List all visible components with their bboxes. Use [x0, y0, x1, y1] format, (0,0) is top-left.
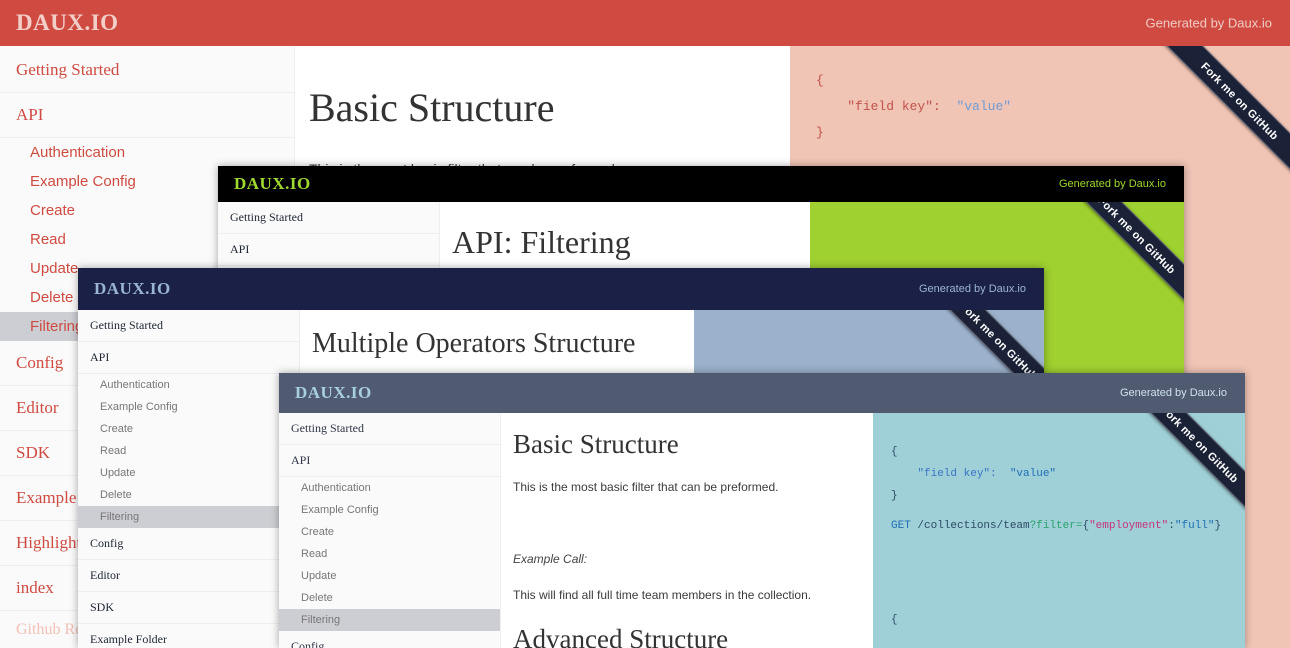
sidebar-item-update[interactable]: Update: [279, 565, 500, 587]
sidebar-item-api[interactable]: API: [0, 93, 294, 137]
code-brace-open: {: [816, 73, 824, 88]
sidebar-item-filtering[interactable]: Filtering: [279, 609, 500, 631]
sidebar-item-getting-started[interactable]: Getting Started: [0, 48, 294, 92]
sidebar-item-authentication[interactable]: Authentication: [279, 477, 500, 499]
sidebar: Getting Started API Authentication Examp…: [78, 310, 300, 648]
nav-subitem[interactable]: Delete: [78, 484, 299, 506]
sidebar-item-editor[interactable]: Editor: [78, 560, 299, 591]
page-subtitle-advanced: Advanced Structure: [513, 624, 873, 648]
nav-item[interactable]: API: [78, 342, 299, 374]
page-title: Basic Structure: [309, 84, 790, 131]
sidebar-item-read[interactable]: Read: [78, 440, 299, 462]
sidebar-item-api[interactable]: API: [279, 445, 500, 476]
sidebar-item-filtering[interactable]: Filtering: [78, 506, 299, 528]
code-json-value: "full": [1175, 520, 1215, 532]
nav-item[interactable]: API: [279, 445, 500, 477]
sidebar-item-getting-started[interactable]: Getting Started: [279, 413, 500, 444]
nav-subitem[interactable]: Example Config: [78, 396, 299, 418]
daux-window-slate: DAUX.IO Generated by Daux.io Getting Sta…: [279, 373, 1245, 648]
generated-by-label[interactable]: Generated by Daux.io: [1120, 387, 1227, 399]
nav-subitem-active[interactable]: Filtering: [78, 506, 299, 528]
code-json-colon: :: [1168, 520, 1175, 532]
nav-subitem[interactable]: Update: [78, 462, 299, 484]
nav-subitem[interactable]: Read: [279, 543, 500, 565]
generated-by-label[interactable]: Generated by Daux.io: [1059, 178, 1166, 190]
window3-topbar: DAUX.IO Generated by Daux.io: [78, 268, 1044, 310]
sidebar-item-delete[interactable]: Delete: [279, 587, 500, 609]
nav-subitem[interactable]: Create: [78, 418, 299, 440]
code-key: "field key":: [847, 99, 941, 114]
generated-by-label[interactable]: Generated by Daux.io: [1146, 16, 1272, 31]
nav-item[interactable]: Getting Started: [218, 202, 439, 234]
sidebar-item-getting-started[interactable]: Getting Started: [78, 310, 299, 341]
sidebar-item-api[interactable]: API: [78, 342, 299, 373]
nav-item[interactable]: SDK: [78, 592, 299, 624]
nav-item[interactable]: Config: [279, 631, 500, 648]
paragraph-result: This will find all full time team member…: [513, 588, 873, 602]
code-key: "field key":: [917, 468, 996, 480]
sidebar-item-config[interactable]: Config: [279, 631, 500, 648]
logo-daux-io[interactable]: DAUX.IO: [94, 279, 171, 299]
sidebar-item-create[interactable]: Create: [279, 521, 500, 543]
code-json-close: }: [1215, 520, 1222, 532]
nav-list: Getting Started API Authentication Examp…: [78, 310, 299, 648]
nav-list: Getting Started API Authentication Examp…: [279, 413, 500, 648]
nav-subitem[interactable]: Authentication: [279, 477, 500, 499]
code-query-param: ?filter=: [1030, 520, 1083, 532]
sidebar-item-getting-started[interactable]: Getting Started: [218, 202, 439, 233]
nav-item[interactable]: Editor: [78, 560, 299, 592]
code-block-get: GET /collections/team?filter={"employmen…: [873, 507, 1245, 537]
nav-subitem[interactable]: Update: [279, 565, 500, 587]
content-area: Basic Structure This is the most basic f…: [501, 413, 873, 648]
sidebar-item-read[interactable]: Read: [279, 543, 500, 565]
nav-item[interactable]: Getting Started: [0, 48, 294, 93]
nav-subitem-active[interactable]: Filtering: [279, 609, 500, 631]
code-http-method: GET: [891, 520, 911, 532]
sidebar: Getting Started API Authentication Examp…: [279, 413, 501, 648]
nav-item[interactable]: Example Folder: [78, 624, 299, 648]
window4-topbar: DAUX.IO Generated by Daux.io: [279, 373, 1245, 413]
code-path: /collections/team: [911, 520, 1030, 532]
nav-item[interactable]: Getting Started: [279, 413, 500, 445]
paragraph-basic: This is the most basic filter that can b…: [513, 480, 873, 494]
code-brace-close: }: [816, 125, 824, 140]
logo-daux-io[interactable]: DAUX.IO: [16, 10, 119, 36]
nav-subitem[interactable]: Delete: [279, 587, 500, 609]
nav-item[interactable]: Getting Started: [78, 310, 299, 342]
code-value: "value": [956, 99, 1011, 114]
nav-item[interactable]: API: [0, 93, 294, 138]
sidebar-item-config[interactable]: Config: [78, 528, 299, 559]
code-brace-open: {: [891, 446, 898, 458]
code-brace-open-2: {: [891, 614, 898, 626]
sidebar-item-authentication[interactable]: Authentication: [78, 374, 299, 396]
code-value: "value": [1010, 468, 1056, 480]
sidebar-item-example-folder[interactable]: Example Folder: [78, 624, 299, 648]
window2-topbar: DAUX.IO Generated by Daux.io: [218, 166, 1184, 202]
nav-item[interactable]: API: [218, 234, 439, 266]
sidebar-item-sdk[interactable]: SDK: [78, 592, 299, 623]
code-column: { "field key": "value" } GET /collection…: [873, 413, 1245, 648]
page-title: Basic Structure: [513, 429, 873, 460]
sidebar-item-example-config[interactable]: Example Config: [279, 499, 500, 521]
fork-me-on-github-ribbon[interactable]: Fork me on GitHub: [1054, 202, 1184, 318]
sidebar-item-update[interactable]: Update: [78, 462, 299, 484]
generated-by-label[interactable]: Generated by Daux.io: [919, 283, 1026, 295]
page-title: Multiple Operators Structure: [312, 328, 694, 360]
paragraph-example-call: Example Call:: [513, 552, 873, 566]
nav-subitem[interactable]: Authentication: [0, 138, 294, 167]
nav-item[interactable]: Config: [78, 528, 299, 560]
logo-daux-io[interactable]: DAUX.IO: [295, 383, 372, 403]
sidebar-item-api[interactable]: API: [218, 234, 439, 265]
code-json-key: "employment": [1089, 520, 1168, 532]
nav-subitem[interactable]: Example Config: [279, 499, 500, 521]
sidebar-item-delete[interactable]: Delete: [78, 484, 299, 506]
window1-topbar: DAUX.IO Generated by Daux.io: [0, 0, 1290, 46]
nav-subitem[interactable]: Read: [78, 440, 299, 462]
code-block-advanced: {: [873, 537, 1245, 631]
nav-subitem[interactable]: Create: [279, 521, 500, 543]
sidebar-item-create[interactable]: Create: [78, 418, 299, 440]
sidebar-item-authentication[interactable]: Authentication: [0, 138, 294, 167]
sidebar-item-example-config[interactable]: Example Config: [78, 396, 299, 418]
nav-subitem[interactable]: Authentication: [78, 374, 299, 396]
logo-daux-io[interactable]: DAUX.IO: [234, 174, 311, 194]
screenshot-stage: DAUX.IO Generated by Daux.io Getting Sta…: [0, 0, 1290, 648]
window4-body: Getting Started API Authentication Examp…: [279, 413, 1245, 648]
page-title: API: Filtering: [452, 224, 810, 261]
code-brace-close: }: [891, 490, 898, 502]
